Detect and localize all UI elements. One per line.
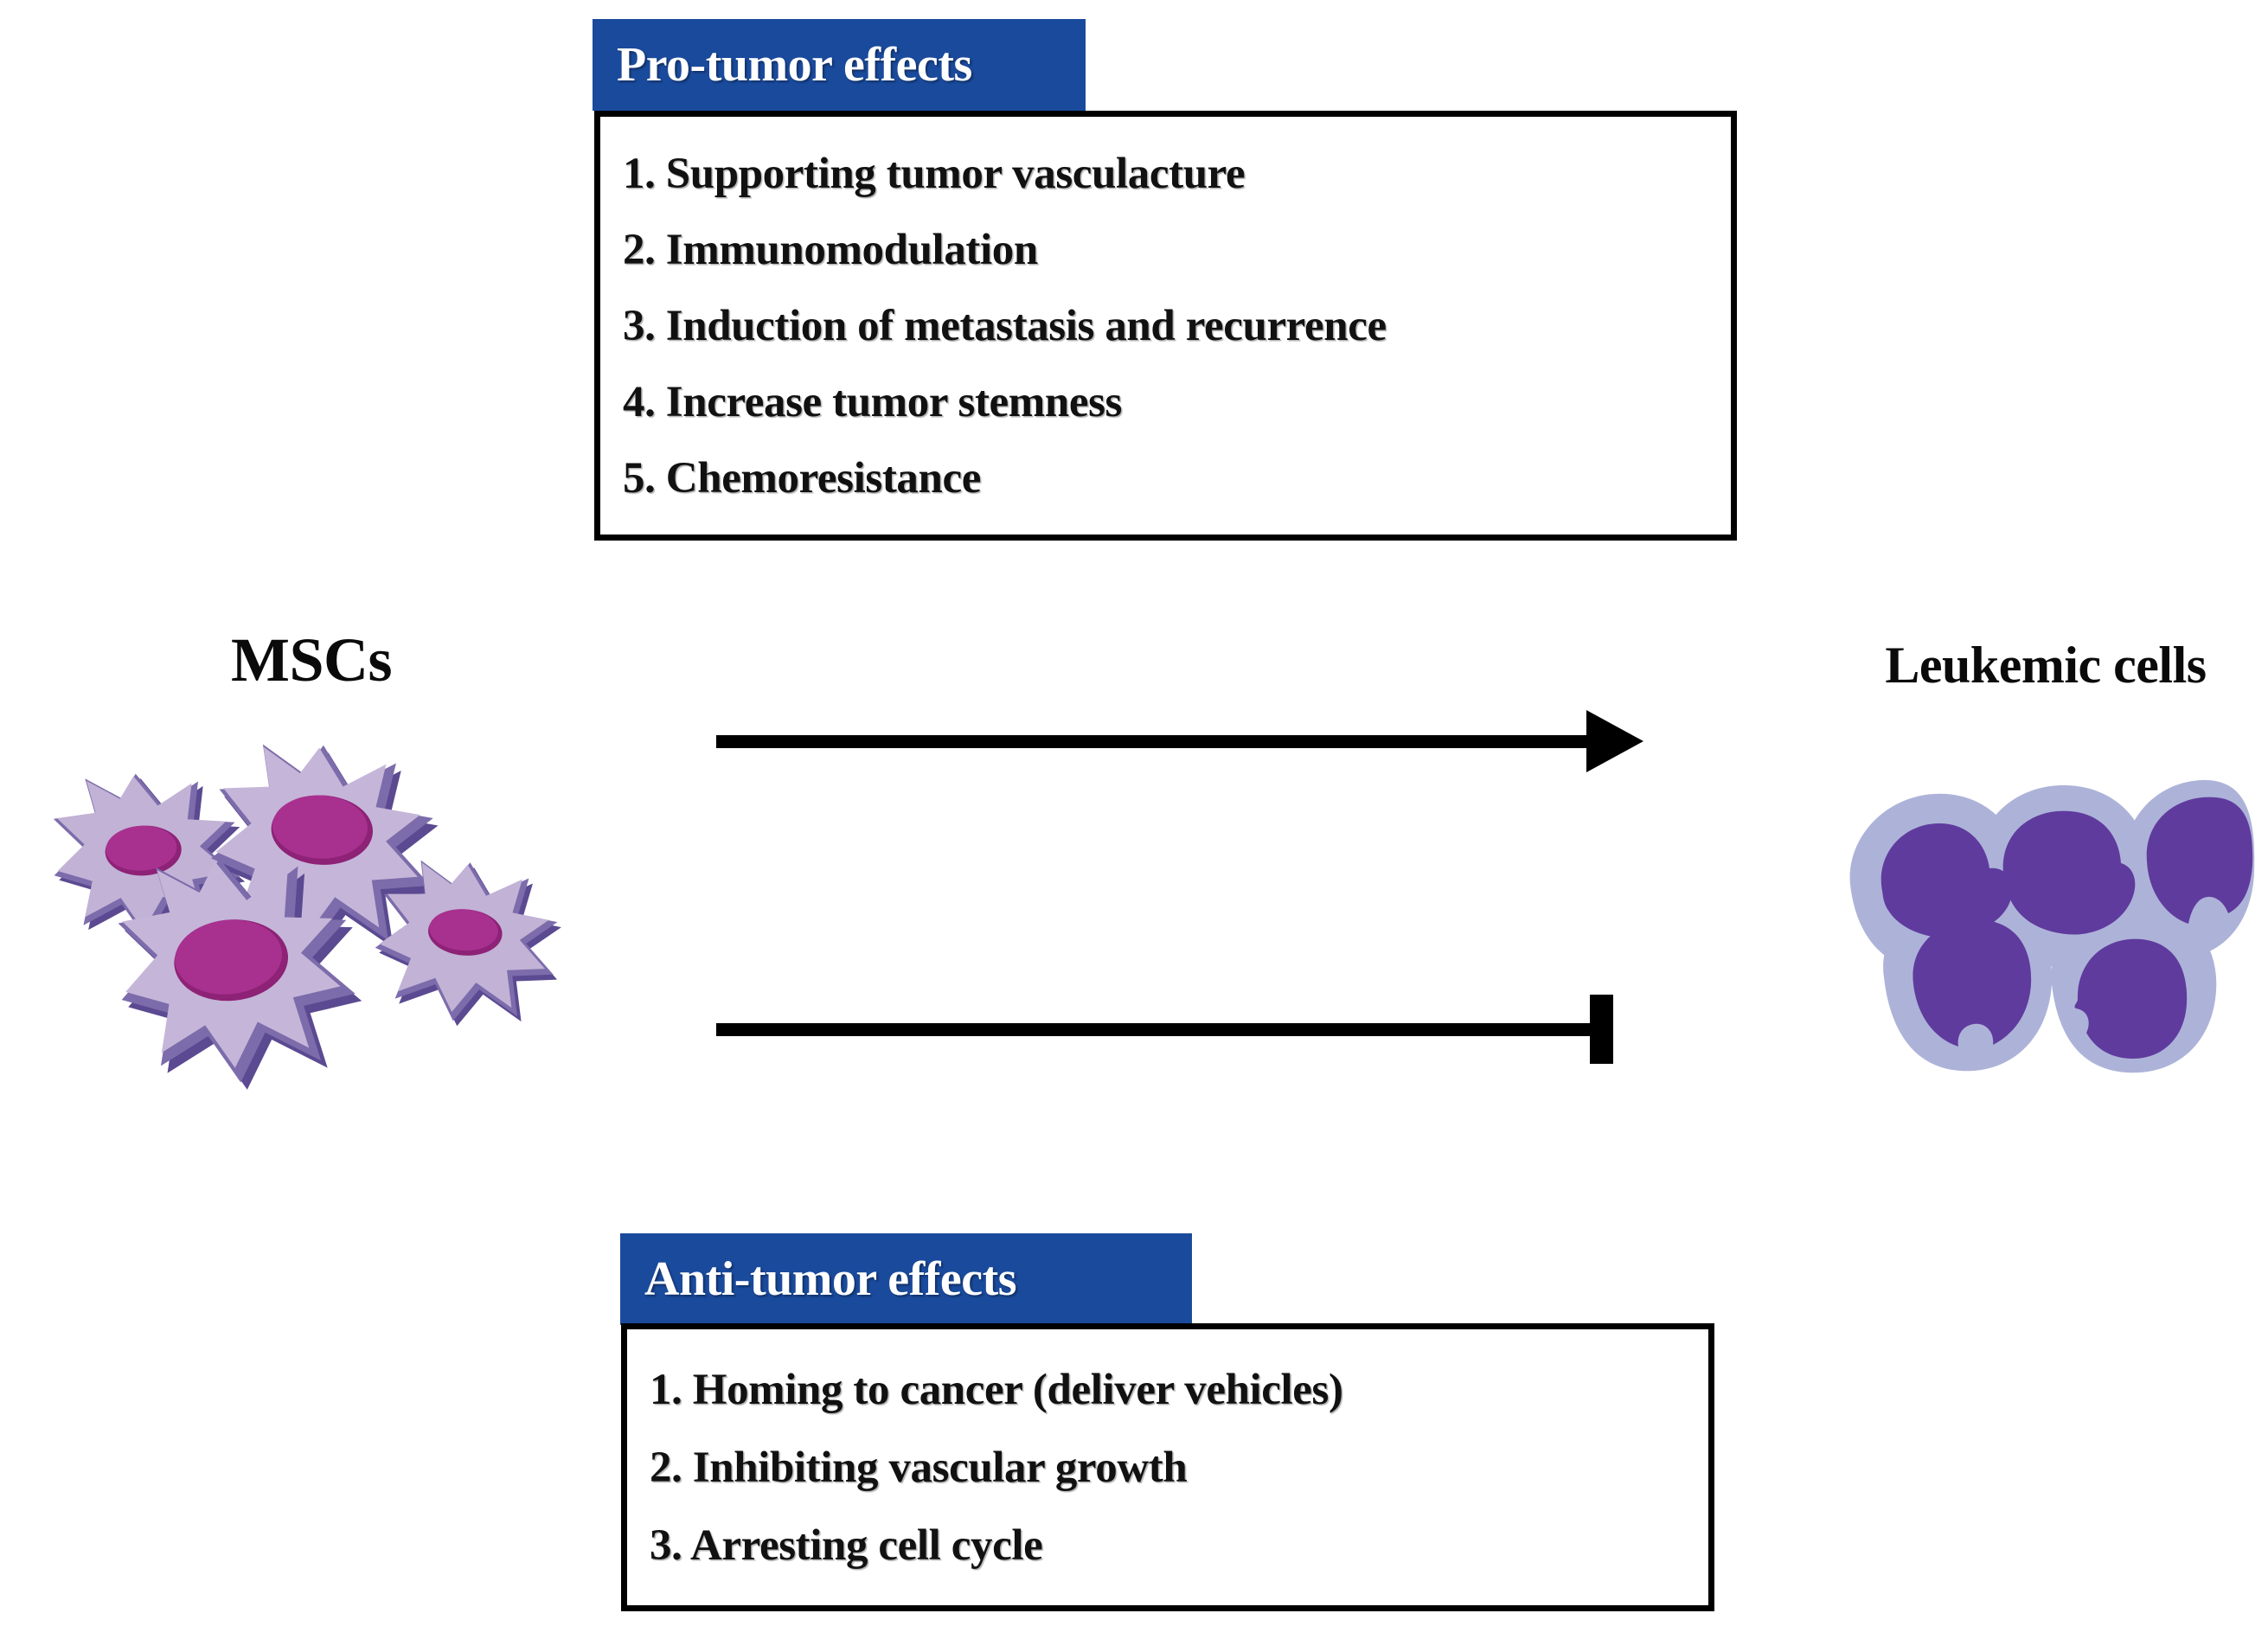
arrow-shaft xyxy=(716,1023,1598,1036)
pro-tumor-header-label: Pro-tumor effects xyxy=(617,37,972,93)
inhibiting-arrow xyxy=(716,995,1646,1067)
anti-tumor-box: 1. Homing to cancer (deliver vehicles) 2… xyxy=(621,1323,1714,1611)
list-item: 2. Immunomodulation xyxy=(623,212,1708,288)
anti-tumor-header: Anti-tumor effects xyxy=(620,1233,1192,1325)
arrow-right-icon xyxy=(1586,710,1643,772)
anti-tumor-list: 1. Homing to cancer (deliver vehicles) 2… xyxy=(650,1351,1686,1584)
leukemic-cells-label: Leukemic cells xyxy=(1821,636,2268,695)
list-item: 1. Homing to cancer (deliver vehicles) xyxy=(650,1351,1686,1429)
arrow-tbar-icon xyxy=(1590,995,1613,1064)
leukemic-blast-cells-icon xyxy=(1816,761,2258,1090)
pro-tumor-box: 1. Supporting tumor vasculacture 2. Immu… xyxy=(594,111,1737,541)
figure-canvas: Pro-tumor effects 1. Supporting tumor va… xyxy=(0,0,2268,1626)
list-item: 1. Supporting tumor vasculacture xyxy=(623,136,1708,212)
arrow-shaft xyxy=(716,735,1592,748)
promoting-arrow xyxy=(716,709,1646,775)
anti-tumor-header-label: Anti-tumor effects xyxy=(644,1252,1016,1307)
list-item: 3. Induction of metastasis and recurrenc… xyxy=(623,288,1708,364)
list-item: 3. Arresting cell cycle xyxy=(650,1507,1686,1584)
list-item: 5. Chemoresistance xyxy=(623,440,1708,516)
msc-cells-illustration xyxy=(17,718,631,1090)
msc-label: MSCs xyxy=(164,624,458,696)
list-item: 4. Increase tumor stemness xyxy=(623,364,1708,440)
list-item: 2. Inhibiting vascular growth xyxy=(650,1429,1686,1507)
pro-tumor-list: 1. Supporting tumor vasculacture 2. Immu… xyxy=(623,136,1708,516)
mesenchymal-stem-cells-icon xyxy=(17,718,631,1090)
pro-tumor-header: Pro-tumor effects xyxy=(593,19,1086,111)
leukemic-cells-illustration xyxy=(1816,761,2258,1090)
